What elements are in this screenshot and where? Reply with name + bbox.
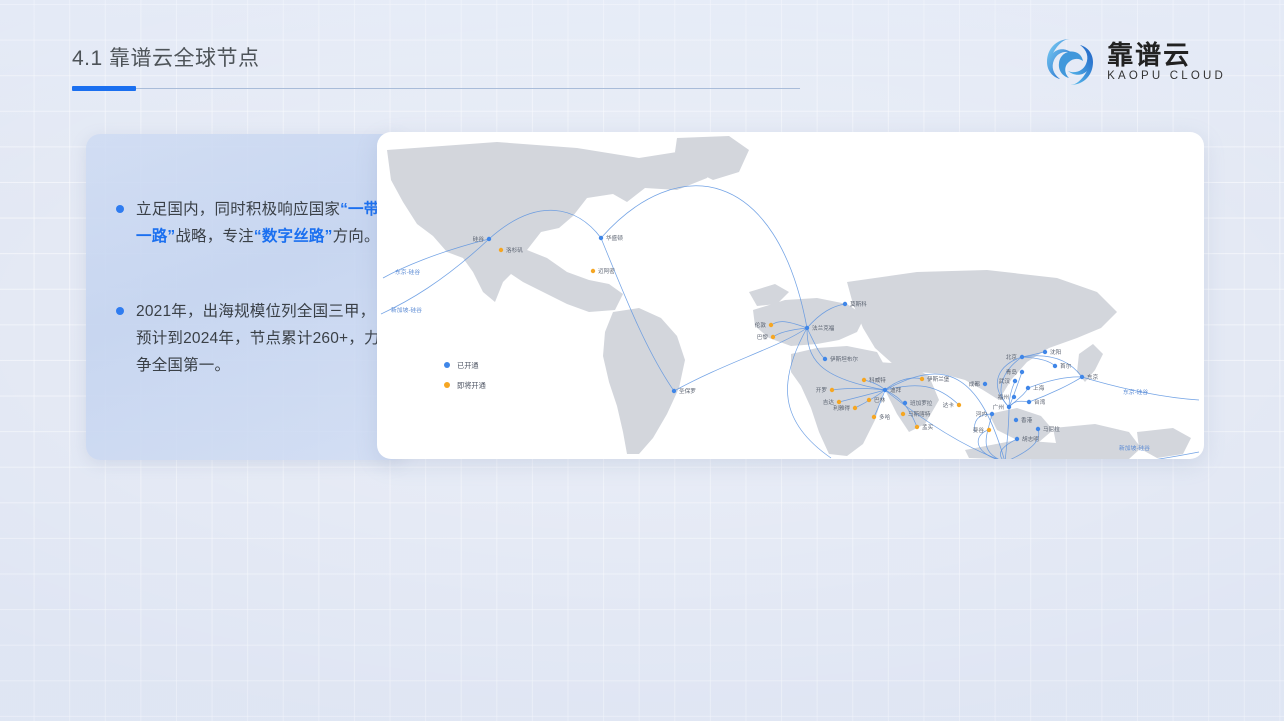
map-node-open[interactable]	[1027, 400, 1031, 404]
map-city-label: 巴林	[874, 396, 886, 404]
map-node-open[interactable]	[487, 237, 491, 241]
map-node-coming[interactable]	[867, 398, 871, 402]
map-node-open[interactable]	[1015, 437, 1019, 441]
bullet-highlight: “数字丝路”	[254, 228, 333, 245]
map-node-coming[interactable]	[771, 335, 775, 339]
logo-name-en: KAOPU CLOUD	[1107, 70, 1226, 82]
map-city-label: 广州	[993, 403, 1004, 411]
route-label-tokyo-siliconvalley-east: 东京-硅谷	[1123, 388, 1148, 396]
map-city-label: 利雅得	[833, 404, 850, 412]
map-node-open[interactable]	[843, 302, 847, 306]
map-city-label: 巴黎	[757, 333, 769, 341]
map-city-label: 迈阿密	[598, 267, 615, 275]
map-node-open[interactable]	[903, 401, 907, 405]
logo-wordmark: 靠谱云 KAOPU CLOUD	[1107, 42, 1226, 82]
map-city-label: 曼谷	[973, 426, 985, 434]
world-map-svg: 硅谷洛杉矶华盛顿迈阿密圣保罗伦敦巴黎法兰克福莫斯科伊斯坦布尔科威特开罗吉达利雅得…	[377, 132, 1204, 459]
map-city-label: 青岛	[1006, 368, 1018, 376]
bullet-plain: 方向。	[333, 228, 380, 245]
map-city-label: 伦敦	[755, 321, 767, 329]
orange-dot-icon	[444, 382, 450, 388]
map-node-coming[interactable]	[915, 425, 919, 429]
map-node-open[interactable]	[1007, 405, 1011, 409]
route-label-singapore-siliconvalley-west: 新加坡-硅谷	[391, 306, 422, 314]
map-node-open[interactable]	[1014, 418, 1018, 422]
map-node-open[interactable]	[1026, 386, 1030, 390]
map-city-label: 台湾	[1034, 398, 1046, 406]
map-node-coming[interactable]	[499, 248, 503, 252]
partners-row: 已接入 aws	[0, 592, 1284, 672]
logo-name-cn: 靠谱云	[1107, 42, 1226, 69]
map-node-open[interactable]	[1053, 364, 1057, 368]
map-landmasses	[387, 136, 1191, 459]
title-accent-bar	[72, 86, 136, 91]
map-city-label: 法兰克福	[812, 324, 835, 332]
map-node-open[interactable]	[1080, 375, 1084, 379]
map-node-coming[interactable]	[872, 415, 876, 419]
map-node-open[interactable]	[1020, 370, 1024, 374]
bullet-dot-icon	[116, 307, 124, 315]
bullet-plain: 2021年，出海规模位列全国三甲，预计到2024年，节点累计260+，力争全国第…	[136, 303, 380, 374]
map-city-label: 吉达	[823, 398, 835, 406]
map-city-label: 孟买	[922, 423, 934, 431]
world-map-card: 硅谷洛杉矶华盛顿迈阿密圣保罗伦敦巴黎法兰克福莫斯科伊斯坦布尔科威特开罗吉达利雅得…	[377, 132, 1204, 459]
map-node-coming[interactable]	[901, 412, 905, 416]
legend-label-coming: 即将开通	[457, 381, 486, 390]
map-city-label: 莫斯科	[850, 300, 867, 308]
map-city-label: 马斯喀特	[908, 410, 931, 418]
map-city-label: 班加罗拉	[910, 399, 933, 407]
map-node-open[interactable]	[805, 326, 809, 330]
route-label-tokyo-siliconvalley-west: 东京-硅谷	[395, 268, 420, 276]
map-city-label: 河内	[976, 410, 988, 418]
map-city-label: 伊斯兰堡	[927, 375, 950, 383]
map-node-open[interactable]	[1036, 427, 1040, 431]
map-legend: 已开通 即将开通	[444, 361, 486, 390]
map-node-open[interactable]	[1013, 379, 1017, 383]
map-node-coming[interactable]	[769, 323, 773, 327]
brand-logo: 靠谱云 KAOPU CLOUD	[1044, 36, 1226, 88]
bullet-text-1: 立足国内，同时积极响应国家“一带一路”战略，专注“数字丝路”方向。	[136, 196, 382, 250]
map-node-coming[interactable]	[830, 388, 834, 392]
map-city-label: 武汉	[999, 377, 1011, 385]
map-city-label: 圣保罗	[679, 387, 696, 395]
map-node-coming[interactable]	[591, 269, 595, 273]
map-city-label: 福州	[998, 393, 1009, 401]
title-rule	[72, 88, 800, 89]
map-node-coming[interactable]	[853, 406, 857, 410]
map-city-label: 达卡	[943, 401, 955, 409]
bullet-list: 立足国内，同时积极响应国家“一带一路”战略，专注“数字丝路”方向。 2021年，…	[112, 196, 382, 427]
route-label-singapore-siliconvalley-east: 新加坡-硅谷	[1119, 444, 1150, 452]
map-node-coming[interactable]	[920, 377, 924, 381]
list-item: 2021年，出海规模位列全国三甲，预计到2024年，节点累计260+，力争全国第…	[112, 298, 382, 379]
page-title: 4.1 靠谱云全球节点	[72, 42, 260, 72]
map-city-label: 科威特	[869, 376, 886, 384]
map-node-open[interactable]	[1043, 350, 1047, 354]
map-city-label: 伊斯坦布尔	[830, 355, 858, 363]
map-city-label: 迪拜	[890, 386, 902, 394]
map-city-label: 上海	[1033, 384, 1045, 392]
map-node-coming[interactable]	[957, 403, 961, 407]
map-city-label: 沈阳	[1050, 348, 1062, 356]
stats-row: 边缘计算 300+运营商互联150+数据中心50+区域边缘节点70+城市边缘节点…	[0, 505, 1284, 580]
bullet-text-2: 2021年，出海规模位列全国三甲，预计到2024年，节点累计260+，力争全国第…	[136, 298, 382, 379]
map-city-label: 首尔	[1060, 362, 1072, 370]
map-node-open[interactable]	[983, 382, 987, 386]
map-city-label: 马尼拉	[1043, 425, 1060, 433]
map-node-coming[interactable]	[837, 400, 841, 404]
map-city-label: 香港	[1021, 416, 1033, 424]
map-node-open[interactable]	[883, 388, 887, 392]
map-node-open[interactable]	[672, 389, 676, 393]
map-node-open[interactable]	[990, 412, 994, 416]
slide-header: 4.1 靠谱云全球节点 靠谱云 KAOPU CLOUD	[0, 0, 1284, 110]
bullet-plain: 立足国内，同时积极响应国家	[136, 201, 340, 218]
map-city-label: 华盛顿	[606, 234, 623, 242]
map-city-label: 开罗	[816, 387, 827, 394]
map-node-open[interactable]	[1012, 395, 1016, 399]
map-city-label: 成都	[969, 380, 981, 388]
map-node-coming[interactable]	[987, 428, 991, 432]
map-city-label: 多哈	[879, 413, 891, 421]
list-item: 立足国内，同时积极响应国家“一带一路”战略，专注“数字丝路”方向。	[112, 196, 382, 250]
swirl-logo-icon	[1044, 36, 1096, 88]
blue-dot-icon	[444, 362, 450, 368]
bullet-plain: 战略，专注	[175, 228, 254, 245]
map-node-open[interactable]	[823, 357, 827, 361]
map-city-label: 胡志明	[1022, 435, 1039, 443]
map-city-label: 洛杉矶	[506, 246, 523, 254]
map-node-open[interactable]	[599, 236, 603, 240]
map-node-coming[interactable]	[862, 378, 866, 382]
map-city-label: 东京	[1087, 373, 1099, 381]
map-city-label: 硅谷	[473, 235, 485, 243]
bullet-dot-icon	[116, 205, 124, 213]
legend-label-open: 已开通	[457, 361, 479, 370]
map-node-open[interactable]	[1020, 355, 1024, 359]
map-city-label: 北京	[1006, 353, 1018, 361]
